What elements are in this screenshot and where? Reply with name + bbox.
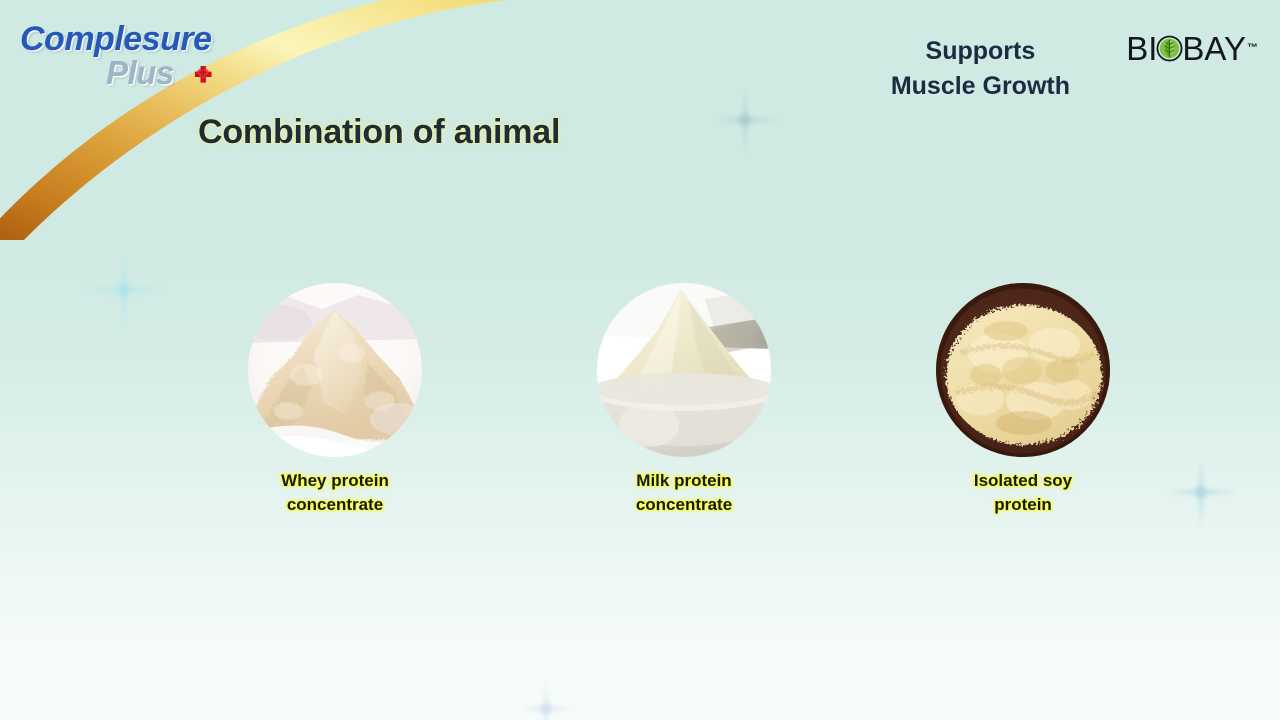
product-caption-milk: Milk protein concentrate: [569, 469, 799, 517]
product-image-whey: [248, 283, 422, 457]
product-caption-soy: Isolated soy protein: [908, 469, 1138, 517]
product-card-whey[interactable]: Whey protein concentrate: [220, 283, 450, 517]
biobay-logo: BI BAY ™: [1126, 26, 1258, 70]
tagline-line-1: Supports: [891, 34, 1070, 69]
caption-line-1: Milk protein: [569, 469, 799, 493]
sparkle-bottom-icon: [516, 679, 576, 720]
product-card-milk[interactable]: Milk protein concentrate: [569, 283, 799, 517]
green-leaf-circle-icon: [1156, 35, 1183, 62]
trademark-symbol: ™: [1247, 42, 1258, 54]
caption-line-2: concentrate: [220, 493, 450, 517]
complesure-plus-logo: Complesure Plus: [20, 20, 240, 95]
biobay-text-right: BAY: [1182, 32, 1246, 65]
product-image-soy: [936, 283, 1110, 457]
product-row: Whey protein concentrate: [0, 283, 1280, 523]
caption-line-2: concentrate: [569, 493, 799, 517]
red-heart-plus-icon: [190, 64, 216, 90]
tagline: Supports Muscle Growth: [891, 34, 1070, 103]
product-caption-whey: Whey protein concentrate: [220, 469, 450, 517]
sparkle-top-center-icon: [711, 86, 779, 154]
caption-line-1: Isolated soy: [908, 469, 1138, 493]
product-image-milk: [597, 283, 771, 457]
product-card-soy[interactable]: Isolated soy protein: [908, 283, 1138, 517]
page-title: Combination of animal: [198, 113, 560, 152]
caption-line-2: protein: [908, 493, 1138, 517]
logo-wordmark-sub: Plus: [106, 54, 174, 92]
biobay-text-left: BI: [1126, 32, 1157, 65]
slide-canvas: Complesure Plus Combination of animal Su…: [0, 0, 1280, 720]
caption-line-1: Whey protein: [220, 469, 450, 493]
tagline-line-2: Muscle Growth: [891, 69, 1070, 104]
